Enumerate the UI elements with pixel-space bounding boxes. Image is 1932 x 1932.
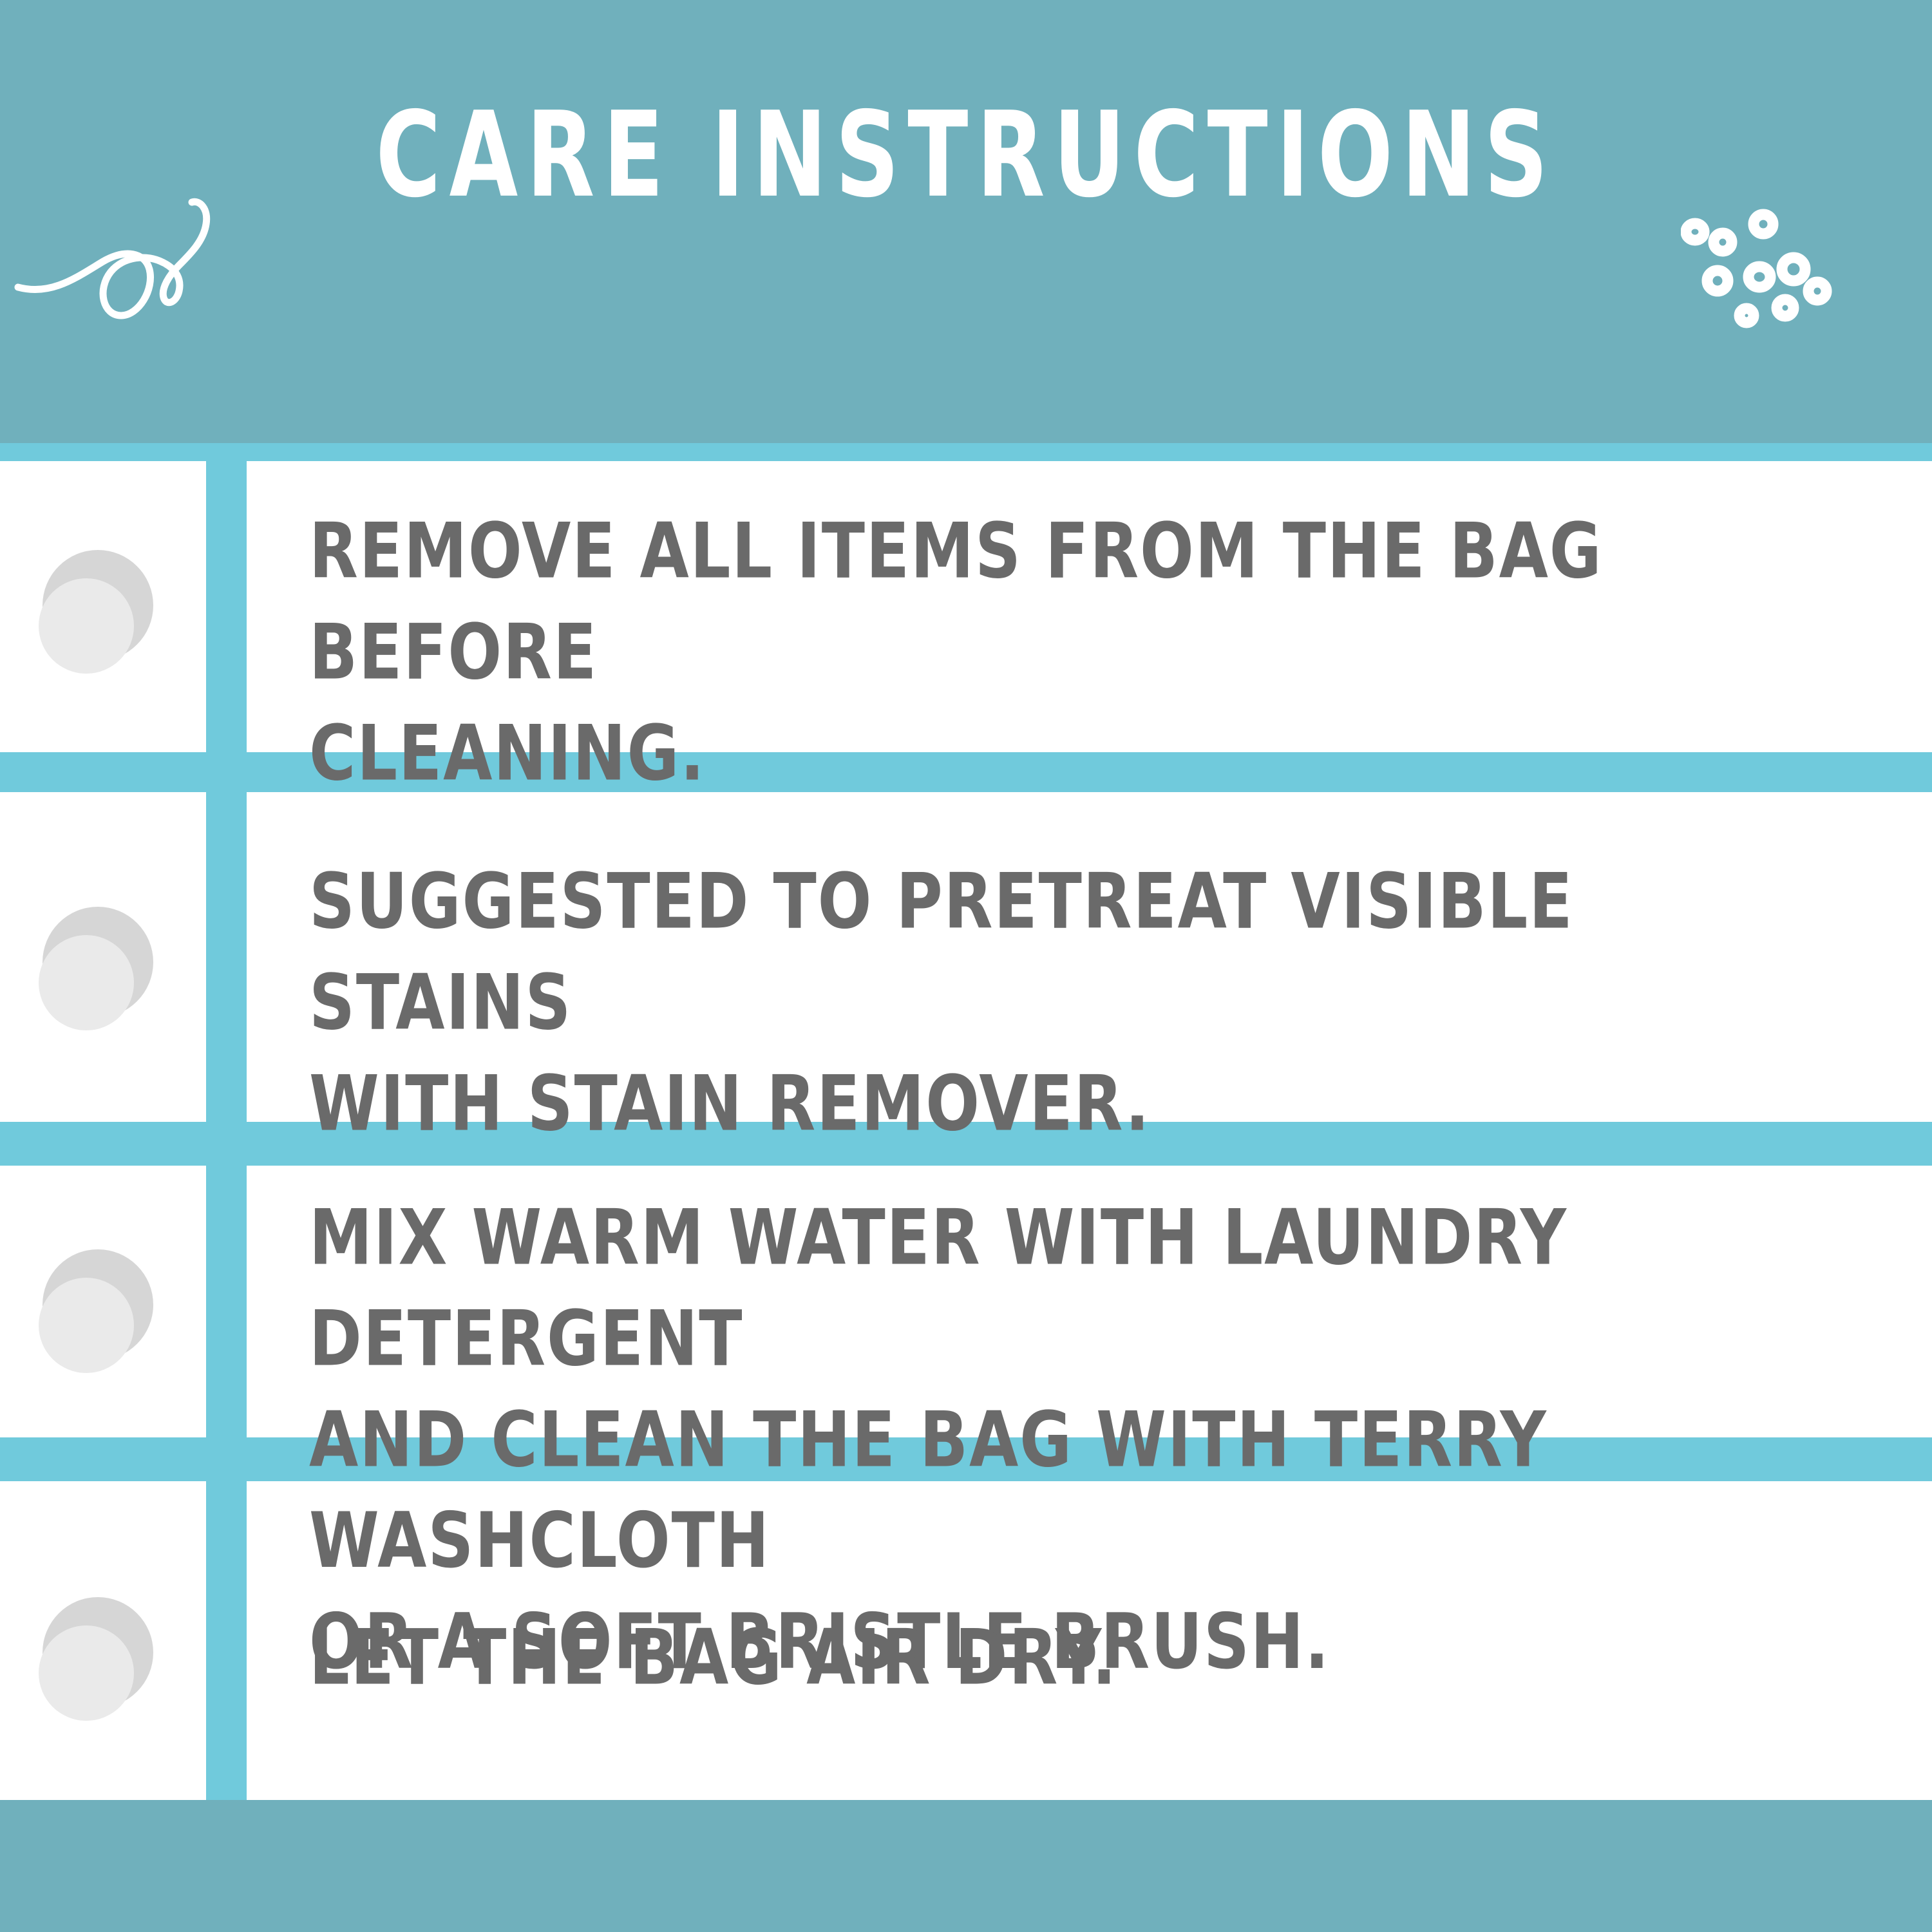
grid-line-top bbox=[0, 443, 1932, 461]
squiggle-flourish-icon bbox=[6, 193, 303, 341]
instruction-text: REMOVE ALL ITEMS FROM THE BAG BEFORE CLE… bbox=[309, 501, 1819, 804]
instruction-row: MIX WARM WATER WITH LAUNDRY DETERGENT AN… bbox=[0, 1166, 1932, 1437]
dots-cluster-icon bbox=[1681, 193, 1926, 374]
instruction-text: SUGGESTED TO PRETREAT VISIBLE STAINS WIT… bbox=[309, 851, 1819, 1154]
circle-bullet-icon bbox=[43, 550, 153, 661]
footer-band bbox=[0, 1800, 1932, 1932]
instruction-row: LET THE BAG AIR DRY. bbox=[0, 1481, 1932, 1800]
circle-bullet-front bbox=[39, 1278, 134, 1373]
circle-bullet-front bbox=[39, 935, 134, 1030]
circle-bullet-front bbox=[39, 578, 134, 674]
instruction-text: LET THE BAG AIR DRY. bbox=[309, 1607, 1819, 1709]
circle-bullet-front bbox=[39, 1625, 134, 1721]
instruction-row: SUGGESTED TO PRETREAT VISIBLE STAINS WIT… bbox=[0, 792, 1932, 1122]
circle-bullet-icon bbox=[43, 907, 153, 1018]
page-title: CARE INSTRUCTIONS bbox=[77, 97, 1855, 214]
circle-bullet-icon bbox=[43, 1249, 153, 1360]
care-instructions-card: CARE INSTRUCTIONS REMOVE ALL ITEMS FROM … bbox=[0, 0, 1932, 1932]
circle-bullet-icon bbox=[43, 1597, 153, 1708]
instruction-row: REMOVE ALL ITEMS FROM THE BAG BEFORE CLE… bbox=[0, 461, 1932, 752]
